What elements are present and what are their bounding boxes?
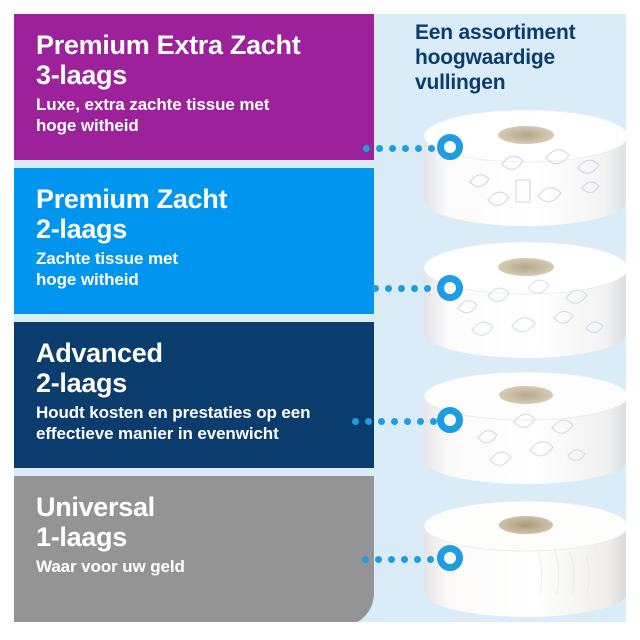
product-range-infographic: Premium Extra Zacht 3-laags Luxe, extra … [0,0,640,640]
bottom-margin [0,622,640,640]
tier-panel-premium-zacht[interactable]: Premium Zacht 2-laags Zachte tissue met … [14,168,374,314]
tier-panel-advanced[interactable]: Advanced 2-laags Houdt kosten en prestat… [14,322,374,468]
page-title-line1: Een assortiment [415,20,630,45]
page-title-line2: hoogwaardige [415,45,630,70]
tier-description-line2: hoge witheid [36,115,354,136]
tier-title: Advanced [36,338,354,368]
marker-ring-universal[interactable] [437,545,463,571]
marker-ring-advanced[interactable] [437,407,463,433]
right-margin [626,0,640,640]
tier-description-line1: Luxe, extra zachte tissue met [36,94,354,115]
page-title-line3: vullingen [415,70,630,95]
connector-dots-premium-zacht [372,285,438,292]
tier-panel-universal[interactable]: Universal 1-laags Waar voor uw geld [14,476,374,627]
tier-description-line1: Waar voor uw geld [36,556,354,577]
tier-title: Premium Zacht [36,184,354,214]
marker-ring-premium-zacht[interactable] [437,275,463,301]
connector-dots-advanced [352,418,438,425]
tier-ply: 2-laags [36,368,354,399]
tier-description-line1: Houdt kosten en prestaties op een [36,402,354,423]
tier-description-line2: hoge witheid [36,269,354,290]
tier-ply: 1-laags [36,522,354,553]
tier-panel-premium-extra-zacht[interactable]: Premium Extra Zacht 3-laags Luxe, extra … [14,14,374,160]
tier-title: Premium Extra Zacht [36,30,354,60]
tier-ply: 3-laags [36,60,354,91]
roll-image-premium-extra-zacht [418,108,634,230]
page-title: Een assortiment hoogwaardige vullingen [415,20,630,95]
marker-ring-premium-extra-zacht[interactable] [437,134,463,160]
tier-description-line1: Zachte tissue met [36,248,354,269]
roll-image-premium-zacht [418,240,634,362]
left-margin [0,0,14,640]
connector-dots-universal [362,556,438,563]
tier-ply: 2-laags [36,214,354,245]
connector-dots-premium-extra-zacht [363,145,439,152]
tier-description-line2: effectieve manier in evenwicht [36,423,354,444]
top-margin [0,0,640,14]
tier-panel-stack: Premium Extra Zacht 3-laags Luxe, extra … [14,14,374,627]
tier-title: Universal [36,492,354,522]
